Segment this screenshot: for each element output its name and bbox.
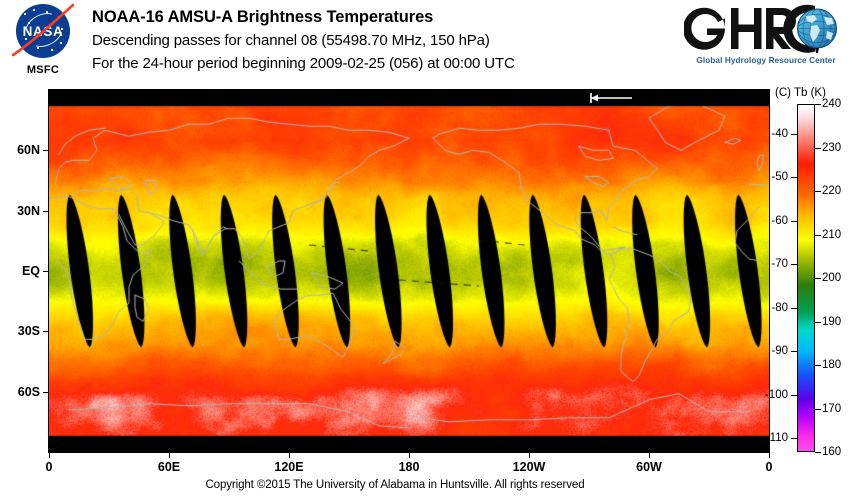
colorbar-tick-k [815,191,821,192]
y-tick [43,211,48,212]
colorbar-tick-k [815,104,821,105]
x-tick-label-5: 60W [636,460,662,474]
title-block: NOAA-16 AMSU-A Brightness Temperatures D… [92,6,652,75]
colorbar-label-celsius-6: -100 [758,389,788,401]
colorbar-tick-c [791,395,797,396]
colorbar-tick-k [815,235,821,236]
x-tick [649,453,650,458]
colorbar-tick-c [791,351,797,352]
colorbar-tick-c [791,177,797,178]
header: NASA MSFC NOAA-16 AMSU-A Brightness Temp… [0,0,854,88]
colorbar-gradient[interactable] [797,104,815,452]
y-tick [43,271,48,272]
colorbar-tick-c [791,308,797,309]
colorbar-label-celsius-0: -40 [758,128,788,140]
x-tick [769,453,770,458]
nasa-logo: NASA MSFC [10,4,76,84]
colorbar-label-kelvin-8: 160 [822,446,841,458]
colorbar-tick-c [791,264,797,265]
subtitle-channel: Descending passes for channel 08 (55498.… [92,29,652,52]
msfc-label: MSFC [10,64,76,76]
colorbar-label-kelvin-7: 170 [822,403,841,415]
x-tick-label-0: 0 [46,460,53,474]
nasa-swoosh-icon [9,3,77,61]
colorbar-tick-c [791,438,797,439]
colorbar-tick-k [815,452,821,453]
colorbar-label-kelvin-5: 190 [822,316,841,328]
ghrc-logo: Global Hydrology Resource Center [684,4,848,78]
y-tick [43,331,48,332]
colorbar-tick-k [815,148,821,149]
y-tick-label-0: 60N [0,143,40,157]
copyright-notice: Copyright ©2015 The University of Alabam… [0,479,790,491]
x-tick [169,453,170,458]
colorbar-label-celsius-7: -110 [758,432,788,444]
x-tick-label-3: 180 [399,460,420,474]
brightness-temperature-heatmap[interactable] [49,90,769,452]
colorbar-tick-k [815,409,821,410]
x-tick [409,453,410,458]
y-tick-label-3: 30S [0,324,40,338]
colorbar-tick-k [815,365,821,366]
colorbar-tick-c [791,221,797,222]
subtitle-period: For the 24-hour period beginning 2009-02… [92,52,652,75]
y-tick [43,392,48,393]
x-tick-label-4: 120W [513,460,546,474]
colorbar-label-kelvin-4: 200 [822,272,841,284]
x-tick [289,453,290,458]
x-tick-label-2: 120E [274,460,303,474]
colorbar-label-celsius-5: -90 [758,345,788,357]
ghrc-wordmark-icon [684,4,848,56]
colorbar-header: (C) Tb (K) [775,87,854,99]
colorbar-tick-c [791,134,797,135]
colorbar-tick-k [815,278,821,279]
colorbar-label-celsius-4: -80 [758,302,788,314]
page-title: NOAA-16 AMSU-A Brightness Temperatures [92,6,652,29]
y-tick-label-2: EQ [0,264,40,278]
y-tick [43,150,48,151]
orbit-start-arrow-icon [588,92,634,104]
ghrc-tagline: Global Hydrology Resource Center [684,56,848,65]
y-tick-label-1: 30N [0,204,40,218]
colorbar-label-kelvin-1: 230 [822,142,841,154]
y-tick-label-4: 60S [0,385,40,399]
map-plot-area[interactable] [48,89,770,453]
x-tick [529,453,530,458]
colorbar-label-kelvin-0: 240 [822,98,841,110]
colorbar-label-kelvin-3: 210 [822,229,841,241]
colorbar-label-celsius-1: -50 [758,171,788,183]
colorbar-label-celsius-2: -60 [758,215,788,227]
colorbar-label-celsius-3: -70 [758,258,788,270]
x-tick-label-1: 60E [158,460,180,474]
colorbar-tick-k [815,322,821,323]
x-tick [49,453,50,458]
colorbar-label-kelvin-6: 180 [822,359,841,371]
x-tick-label-6: 0 [766,460,773,474]
colorbar-label-kelvin-2: 220 [822,185,841,197]
